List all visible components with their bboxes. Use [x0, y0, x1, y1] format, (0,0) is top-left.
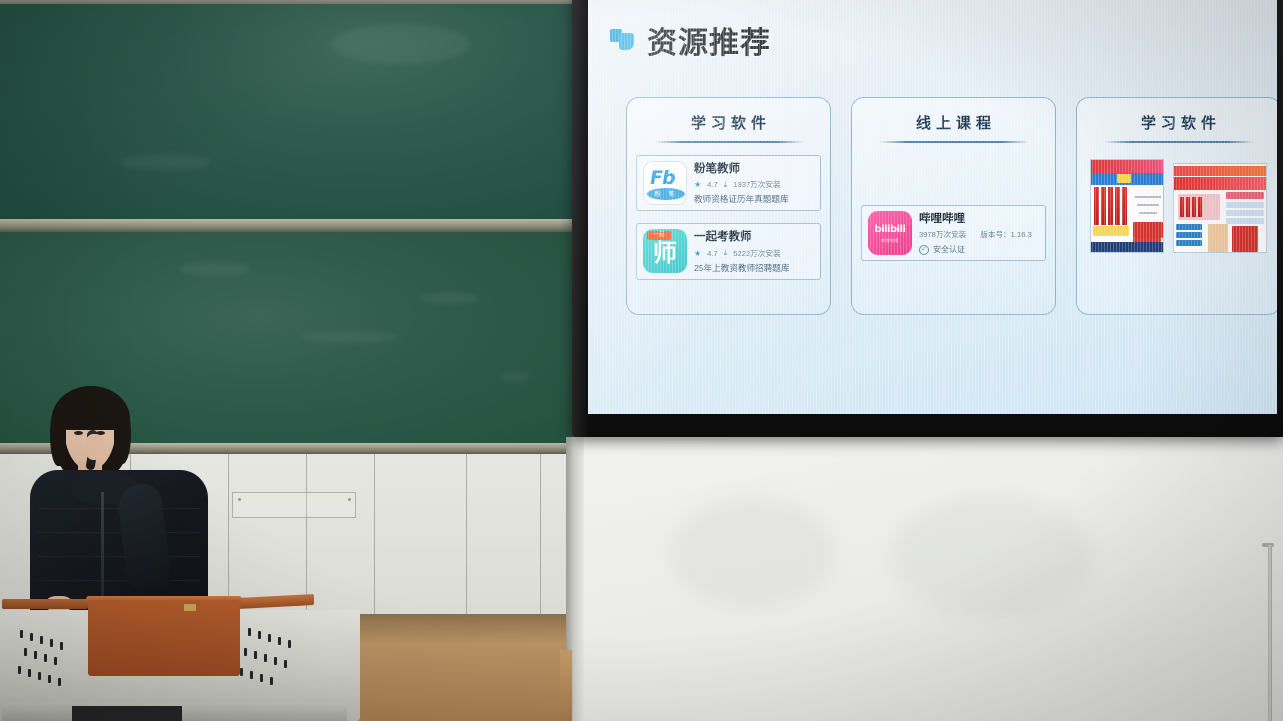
list-item[interactable]: Fb 粉 笔 粉笔教师 ★ 4.7 ⤓ [636, 155, 821, 211]
wall-wood-strip [560, 650, 572, 721]
check-circle-icon: ✓ [919, 245, 929, 255]
card-title: 学习软件 [627, 112, 830, 133]
app-installs: 3978万次安装 [919, 229, 966, 240]
hair-right [114, 404, 131, 464]
app-stats: ★ 4.7 ⤓ 5222万次安装 [694, 248, 814, 259]
list-item[interactable]: bilibili 哔哩哔哩 哔哩哔哩 3978万次安装 版本号：1.16.3 [861, 205, 1046, 261]
promo-book-listing-thumbnail[interactable] [1173, 163, 1267, 253]
app-stats: ★ 4.7 ⤓ 1937万次安装 [694, 179, 814, 190]
lectern-right-rail [238, 594, 314, 609]
lectern-desktop [88, 600, 240, 676]
card-title: 线上课程 [852, 112, 1055, 133]
star-icon: ★ [694, 180, 701, 189]
bilibili-logo-text: bilibili [868, 224, 912, 235]
download-icon: ⤓ [724, 180, 728, 190]
zhonggong-book-listing-thumbnail[interactable] [1090, 159, 1164, 253]
bilibili-logo-subtext: 哔哩哔哩 [868, 238, 912, 244]
card-title-underline [879, 141, 1029, 143]
lectern-cutout [72, 706, 182, 721]
thumbnail-row [1077, 159, 1277, 253]
card-title-underline [1104, 141, 1254, 143]
blackboard-middle-rail [0, 219, 578, 232]
yiqikao-logo-text: 师 [643, 239, 687, 269]
app-rating: 4.7 [707, 180, 718, 189]
app-name: 哔哩哔哩 [919, 212, 1039, 226]
slide-resource-recommendation: 资源推荐 学习软件 Fb 粉 笔 [588, 0, 1277, 414]
card-row: 学习软件 Fb 粉 笔 粉笔教师 [626, 97, 1277, 315]
lectern [0, 592, 360, 721]
fenbi-ribbon-text: 粉 笔 [647, 189, 685, 198]
blackboard-upper-panel [0, 4, 578, 221]
lectern-left-rail [2, 599, 88, 609]
app-name: 一起考教师 [694, 230, 814, 244]
list-item[interactable]: 一起 师 一起考教师 ★ 4.7 ⤓ 5222万次安装 [636, 223, 821, 279]
slide-header: 资源推荐 [610, 18, 771, 62]
app-name: 粉笔教师 [694, 162, 814, 176]
card-title: 学习软件 [1077, 112, 1277, 133]
fenbi-ribbon: 粉 笔 [647, 188, 685, 200]
app-meta: 粉笔教师 ★ 4.7 ⤓ 1937万次安装 教师资格证历年真题题库 [694, 161, 814, 205]
app-description: 教师资格证历年真题题库 [694, 193, 814, 205]
card-title-underline [654, 141, 804, 143]
app-meta: 一起考教师 ★ 4.7 ⤓ 5222万次安装 25年上教资教师招聘题库 [694, 229, 814, 273]
right-hand [85, 434, 104, 460]
yiqikao-app-icon: 一起 师 [643, 229, 687, 273]
card-online-courses[interactable]: 线上课程 bilibili 哔哩哔哩 哔哩哔哩 3978万次安装 [851, 97, 1056, 315]
app-meta: 哔哩哔哩 3978万次安装 版本号：1.16.3 ✓ 安全认证 [919, 211, 1039, 255]
card-study-software-2[interactable]: 学习软件 [1076, 97, 1277, 315]
wall-access-hatch [232, 492, 356, 518]
whiteboard-wall [572, 437, 1283, 721]
star-icon: ★ [694, 249, 701, 258]
fenbi-app-icon: Fb 粉 笔 [643, 161, 687, 205]
wall-rail [1268, 545, 1272, 721]
stacked-squares-icon [610, 27, 636, 53]
app-installs: 5222万次安装 [733, 248, 780, 259]
jacket-zipper [101, 492, 104, 602]
download-icon: ⤓ [724, 248, 728, 258]
fenbi-logo-text: Fb [650, 168, 682, 189]
lectern-latch [184, 604, 196, 611]
hair-left [50, 404, 66, 466]
display-screen[interactable]: 资源推荐 学习软件 Fb 粉 笔 [588, 0, 1277, 414]
classroom-background [0, 0, 578, 721]
app-version: 版本号：1.16.3 [980, 229, 1032, 240]
card-study-software-1[interactable]: 学习软件 Fb 粉 笔 粉笔教师 [626, 97, 831, 315]
certification-label: 安全认证 [933, 244, 965, 255]
app-stats: 3978万次安装 版本号：1.16.3 [919, 229, 1039, 240]
app-installs: 1937万次安装 [733, 179, 780, 190]
presentation-display: 资源推荐 学习软件 Fb 粉 笔 [572, 0, 1283, 437]
certification-row: ✓ 安全认证 [919, 244, 1039, 255]
screenshot-scene: 资源推荐 学习软件 Fb 粉 笔 [0, 0, 1283, 721]
bilibili-app-icon: bilibili 哔哩哔哩 [868, 211, 912, 255]
app-description: 25年上教资教师招聘题库 [694, 262, 814, 274]
app-rating: 4.7 [707, 249, 718, 258]
page-title: 资源推荐 [647, 18, 771, 62]
